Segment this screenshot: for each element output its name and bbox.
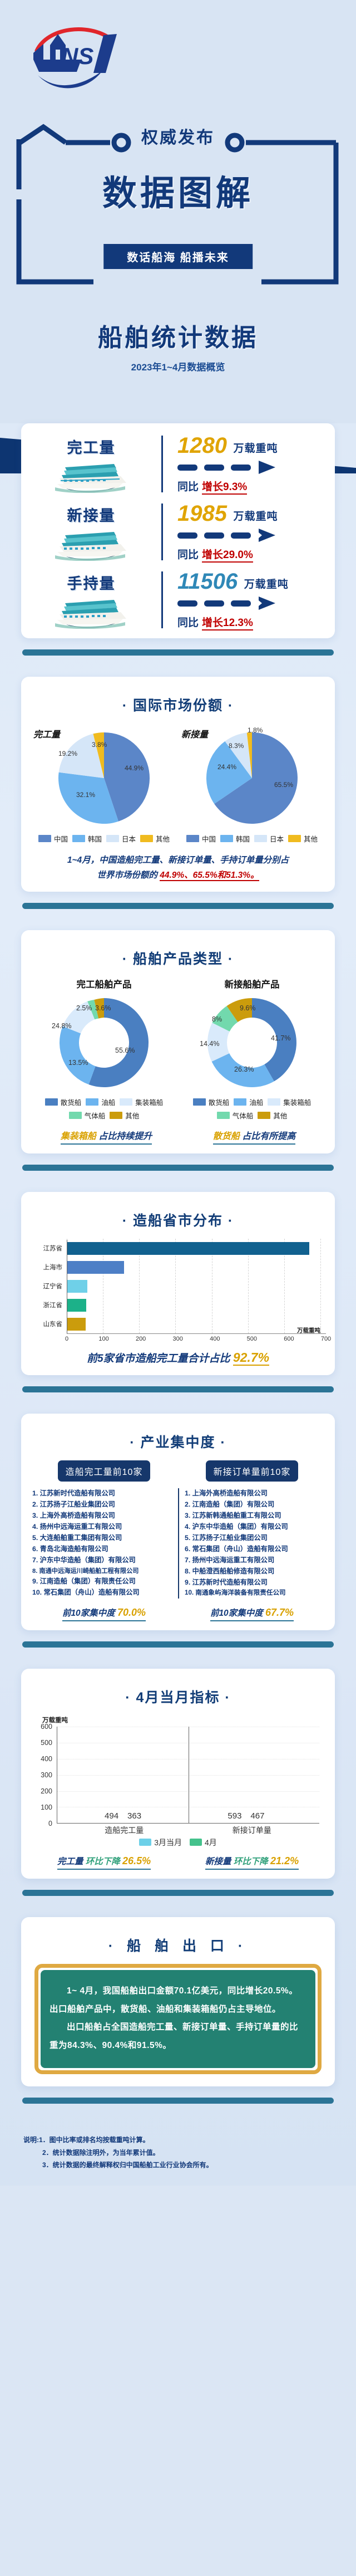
kpi-yoy-value-2: 增长12.3%	[202, 617, 253, 630]
cruise-ship-icon	[50, 594, 133, 629]
pie-legend-completions: 中国 韩国 日本 其他	[31, 833, 177, 844]
kpi-yoy-value-1: 增长29.0%	[202, 549, 253, 563]
dashed-arrow-icon	[177, 596, 335, 613]
export-paragraph-1: 1~ 4月，我国船舶出口金额70.1亿美元，同比增长20.5%。出口船舶产品中，…	[50, 1982, 306, 2018]
kpi-right-1: 1985 万载重吨 同比增长29.0%	[163, 502, 335, 561]
slogan-bar: 数话船海 船播未来	[103, 244, 253, 269]
april-stats: 完工量 环比下降 26.5% 新接量 环比下降 21.2%	[30, 1855, 326, 1870]
april-unit-label: 万载重吨	[42, 1715, 326, 1724]
header: NS 权威发布 数据图解 数话船海 船播未来 船舶统计数据 2023年1~4月数…	[0, 0, 356, 423]
legend-label: 日本	[122, 833, 136, 844]
tag-left: 集装箱船 占比持续提升	[61, 1128, 152, 1145]
stat-value: 70.0%	[117, 1607, 146, 1618]
province-title: · 造船省市分布 ·	[30, 1210, 326, 1230]
province-bar	[67, 1261, 124, 1274]
stat-mid: 环比下降	[234, 1857, 268, 1866]
kpi-value-2: 11506	[177, 570, 238, 593]
list-item: 8. 中船澄西船舶修造有限公司	[185, 1566, 324, 1577]
april-x-label-0: 造船完工量	[57, 1825, 192, 1836]
legend-item: 散货船	[45, 1097, 82, 1107]
tag-left-highlight: 集装箱船	[61, 1132, 96, 1141]
legend-item: 集装箱船	[268, 1097, 311, 1107]
pie-label-cn: 65.5%	[274, 781, 293, 789]
header-badge: 权威发布	[0, 124, 356, 148]
x-tick: 300	[172, 1336, 182, 1342]
tag-left-rest: 占比持续提升	[98, 1132, 152, 1141]
y-tick: 100	[41, 1803, 52, 1811]
donut-label-other: 9.6%	[240, 1004, 256, 1012]
card-foot-bar	[22, 1386, 334, 1392]
card-foot-bar	[22, 1890, 334, 1896]
legend-item: 散货船	[193, 1097, 230, 1107]
donut-label-tanker: 26.3%	[234, 1065, 254, 1073]
donut-label-container: 24.8%	[52, 1022, 71, 1030]
kpi-right-2: 11506 万载重吨 同比增长12.3%	[163, 570, 335, 629]
april-legend: 3月当月 4月	[30, 1837, 326, 1848]
pie-label-other: 1.8%	[248, 726, 263, 734]
tag-right: 散货船 占比有所提高	[213, 1128, 295, 1145]
concentration-title: · 产业集中度 ·	[30, 1431, 326, 1451]
donut-label-bulk: 41.7%	[271, 1034, 290, 1042]
pie-chart-neworders: 新接量 65.5% 24.4% 8.3% 1.8%	[179, 724, 325, 844]
legend-swatch	[190, 1839, 202, 1846]
x-tick: 100	[98, 1336, 108, 1342]
legend-swatch	[193, 1098, 206, 1106]
x-tick: 700	[321, 1336, 331, 1342]
list-item: 4. 沪东中华造船（集团）有限公司	[185, 1522, 324, 1533]
kpi-yoy-prefix-2: 同比	[177, 617, 199, 629]
list-item: 10. 南通象屿海洋装备有限责任公司	[185, 1588, 324, 1599]
market-share-pies: 完工量 44.9% 32.1% 19.2% 3.8%	[30, 724, 326, 844]
pie-legend-neworders: 中国 韩国 日本 其他	[179, 833, 325, 844]
pie-label-kr: 24.4%	[217, 763, 236, 771]
legend-swatch	[120, 1098, 132, 1106]
legend-item: 日本	[106, 833, 136, 844]
province-label: 辽宁省	[30, 1282, 67, 1291]
province-card: · 造船省市分布 · 江苏省 上海市 辽宁省	[21, 1192, 335, 1375]
legend-label: 集装箱船	[283, 1097, 311, 1107]
cruise-ship-icon	[50, 526, 133, 561]
footnote-item: 1．图中比率或排名均按载重吨计算。	[39, 2134, 150, 2146]
note-line-2-prefix: 世界市场份额的	[97, 871, 157, 880]
page-title: 数据图解	[0, 165, 356, 215]
main-heading: 船舶统计数据	[0, 317, 356, 353]
legend-item: 中国	[38, 833, 68, 844]
card-foot-bar	[22, 903, 334, 909]
legend-swatch	[288, 835, 301, 842]
list-item: 1. 江苏新时代造船有限公司	[32, 1488, 176, 1499]
pie-label-jp: 19.2%	[58, 750, 77, 757]
legend-swatch	[186, 835, 199, 842]
legend-label: 油船	[249, 1097, 263, 1107]
april-stat-left: 完工量 环比下降 26.5%	[57, 1855, 151, 1870]
legend-label: 油船	[101, 1097, 115, 1107]
export-card: · 船 舶 出 口 · 1~ 4月，我国船舶出口金额70.1亿美元，同比增长20…	[21, 1917, 335, 2086]
province-row: 浙江省	[30, 1296, 326, 1314]
market-share-card: · 国际市场份额 · 完工量 44.9% 32.1%	[21, 677, 335, 892]
pie-label-other: 3.8%	[92, 741, 107, 749]
legend-label: 气体船	[85, 1110, 106, 1121]
legend-label: 4月	[205, 1838, 217, 1847]
completions-company-list: 1. 江苏新时代造船有限公司 2. 江苏扬子江船业集团公司 3. 上海外高桥造船…	[30, 1488, 178, 1599]
legend-item: 3月当月	[139, 1837, 182, 1848]
kpi-label-1: 新接量	[21, 504, 161, 525]
donut-label-bulk: 55.6%	[115, 1047, 135, 1054]
list-item: 4. 扬州中远海运重工有限公司	[32, 1522, 176, 1533]
y-tick: 400	[41, 1755, 52, 1763]
province-row: 江苏省	[30, 1239, 326, 1258]
footnote-head: 说明:	[23, 2134, 39, 2146]
donut-chart-neworders: 新接船舶产品 41.7% 26.3%	[179, 977, 325, 1121]
kpi-unit-2: 万载重吨	[244, 579, 289, 590]
april-card: · 4月当月指标 · 万载重吨 600 500 400 300 200 100 …	[21, 1669, 335, 1879]
stat-mid: 环比下降	[86, 1857, 120, 1866]
x-tick: 400	[210, 1336, 220, 1342]
donut-label-tanker: 13.5%	[68, 1059, 88, 1067]
legend-swatch	[72, 835, 85, 842]
province-unit-label: 万载重吨	[297, 1326, 320, 1335]
footnote-line: 说明: 1．图中比率或排名均按载重吨计算。	[23, 2134, 333, 2146]
kpi-value-1: 1985	[177, 502, 227, 525]
y-tick: 200	[41, 1787, 52, 1795]
legend-item: 集装箱船	[120, 1097, 163, 1107]
province-label: 江苏省	[30, 1244, 67, 1253]
pie-title-neworders: 新接量	[181, 727, 208, 740]
bar-value: 467	[250, 1811, 264, 1821]
concentration-tabs: 造船完工量前10家 新接订单量前10家	[30, 1460, 326, 1482]
legend-label: 散货船	[209, 1097, 230, 1107]
legend-label: 其他	[125, 1110, 139, 1121]
legend-swatch	[69, 1112, 82, 1119]
april-x-label-1: 新接订单量	[184, 1825, 319, 1836]
legend-swatch	[110, 1112, 122, 1119]
market-share-note: 1~4月，中国造船完工量、新接订单量、手持订单量分别占 世界市场份额的 44.9…	[33, 853, 323, 883]
kpi-row: 新接量	[21, 498, 335, 566]
list-item: 5. 大连船舶重工集团有限公司	[32, 1533, 176, 1544]
donut-label-gas: 8%	[212, 1015, 222, 1023]
legend-label: 集装箱船	[135, 1097, 163, 1107]
product-type-tags: 集装箱船 占比持续提升 散货船 占比有所提高	[30, 1128, 326, 1145]
kpi-yoy-value-0: 增长9.3%	[202, 481, 247, 495]
legend-item: 其他	[140, 833, 170, 844]
kpi-row: 完工量	[21, 430, 335, 498]
product-type-card: · 船舶产品类型 · 完工船舶产品	[21, 930, 335, 1153]
export-text: 1~ 4月，我国船舶出口金额70.1亿美元，同比增长20.5%。出口船舶产品中，…	[41, 1970, 315, 2068]
note-line-2-values: 44.9%、65.5%和51.3%。	[160, 871, 259, 881]
kpi-left-1: 新接量	[21, 504, 161, 561]
april-stat-right: 新接量 环比下降 21.2%	[205, 1855, 299, 1870]
list-item: 1. 上海外高桥造船有限公司	[185, 1488, 324, 1499]
list-item: 9. 江南造船（集团）有限责任公司	[32, 1576, 176, 1587]
legend-swatch	[140, 835, 153, 842]
legend-label: 韩国	[88, 833, 102, 844]
donut-chart-completed: 完工船舶产品 55.6% 13.5%	[31, 977, 177, 1121]
legend-swatch	[258, 1112, 270, 1119]
concentration-stats: 前10家集中度 70.0% 前10家集中度 67.7%	[30, 1606, 326, 1621]
list-item: 9. 江苏新时代造船有限公司	[185, 1577, 324, 1588]
legend-label: 日本	[270, 833, 284, 844]
list-item: 5. 江苏扬子江船业集团公司	[185, 1533, 324, 1544]
donut-label-gas: 2.5%	[76, 1004, 92, 1012]
legend-swatch	[45, 1098, 58, 1106]
pie-chart-completions: 完工量 44.9% 32.1% 19.2% 3.8%	[31, 724, 177, 844]
legend-label: 散货船	[61, 1097, 82, 1107]
province-bar-chart: 江苏省 上海市 辽宁省 浙江省 山东省	[30, 1239, 326, 1345]
tag-right-highlight: 散货船	[213, 1132, 240, 1141]
donut-legend-neworders: 散货船 油船 集装箱船 气体船 其他	[179, 1097, 325, 1121]
x-tick: 0	[65, 1336, 68, 1342]
list-item: 3. 上海外高桥造船有限公司	[32, 1511, 176, 1522]
x-tick: 500	[247, 1336, 257, 1342]
kpi-left-2: 手持量	[21, 571, 161, 629]
province-label: 山东省	[30, 1319, 67, 1328]
tab-completions-top10[interactable]: 造船完工量前10家	[58, 1460, 151, 1482]
svg-text:NS: NS	[61, 43, 93, 69]
kpi-card: 完工量	[21, 423, 335, 638]
legend-item: 韩国	[220, 833, 250, 844]
card-foot-bar	[22, 1165, 334, 1171]
export-paragraph-2: 出口船舶占全国造船完工量、新接订单量、手持订单量的比重为84.3%、90.4%和…	[50, 2018, 306, 2055]
kpi-unit-0: 万载重吨	[233, 443, 278, 454]
legend-swatch	[254, 835, 267, 842]
tag-right-rest: 占比有所提高	[242, 1132, 295, 1141]
legend-swatch	[220, 835, 233, 842]
kpi-right-0: 1280 万载重吨 同比增长9.3%	[163, 434, 335, 493]
bar-value: 593	[228, 1811, 241, 1821]
tab-neworders-top10[interactable]: 新接订单量前10家	[206, 1460, 299, 1482]
donut-label-other: 3.6%	[95, 1004, 111, 1012]
legend-swatch	[217, 1112, 230, 1119]
kpi-yoy-prefix-0: 同比	[177, 481, 199, 493]
concentration-stat-left: 前10家集中度 70.0%	[62, 1606, 146, 1621]
footnote-item: 2．统计数据除注明外，为当年累计值。	[42, 2147, 160, 2159]
product-type-title: · 船舶产品类型 ·	[30, 948, 326, 968]
y-tick: 500	[41, 1739, 52, 1747]
legend-label: 其他	[273, 1110, 287, 1121]
legend-item: 日本	[254, 833, 284, 844]
legend-label: 其他	[156, 833, 170, 844]
donut-label-container: 14.4%	[200, 1040, 219, 1048]
province-row: 辽宁省	[30, 1277, 326, 1296]
legend-item: 中国	[186, 833, 216, 844]
y-tick: 300	[41, 1771, 52, 1779]
province-stat-value: 92.7%	[233, 1350, 269, 1366]
concentration-lists: 1. 江苏新时代造船有限公司 2. 江苏扬子江船业集团公司 3. 上海外高桥造船…	[30, 1488, 326, 1599]
donut-title-neworders: 新接船舶产品	[179, 977, 325, 990]
dashed-arrow-icon	[177, 460, 335, 477]
cansi-logo: NS	[21, 19, 132, 92]
legend-label: 中国	[202, 833, 216, 844]
legend-item: 油船	[86, 1097, 115, 1107]
legend-swatch	[106, 835, 119, 842]
pie-label-kr: 32.1%	[76, 791, 95, 799]
y-tick: 600	[41, 1723, 52, 1731]
province-bar	[67, 1280, 87, 1293]
export-box: 1~ 4月，我国船舶出口金额70.1亿美元，同比增长20.5%。出口船舶产品中，…	[34, 1964, 322, 2074]
province-stat-prefix: 前5家省市造船完工量合计占比	[87, 1353, 230, 1365]
legend-swatch	[86, 1098, 98, 1106]
dashed-arrow-icon	[177, 528, 335, 545]
pie-label-jp: 8.3%	[229, 742, 244, 750]
legend-item: 油船	[234, 1097, 263, 1107]
april-title: · 4月当月指标 ·	[30, 1687, 326, 1707]
date-subtitle: 2023年1~4月数据概览	[0, 359, 356, 373]
export-title: · 船 舶 出 口 ·	[30, 1935, 326, 1955]
stat-label: 前10家集中度	[62, 1609, 115, 1618]
province-row: 上海市	[30, 1258, 326, 1277]
kpi-yoy-2: 同比增长12.3%	[177, 614, 335, 629]
april-bar-chart: 600 500 400 300 200 100 0 494 363	[34, 1727, 322, 1836]
province-label: 上海市	[30, 1263, 67, 1272]
neworders-company-list: 1. 上海外高桥造船有限公司 2. 江南造船（集团）有限公司 3. 江苏新韩通船…	[178, 1488, 326, 1599]
legend-item: 韩国	[72, 833, 102, 844]
legend-item: 4月	[190, 1837, 217, 1848]
list-item: 6. 青岛北海造船有限公司	[32, 1544, 176, 1555]
y-tick: 0	[48, 1820, 52, 1827]
note-line-1: 1~4月，中国造船完工量、新接订单量、手持订单量分别占	[67, 856, 289, 865]
donut-title-completed: 完工船舶产品	[31, 977, 177, 990]
legend-swatch	[139, 1839, 151, 1846]
province-bar	[67, 1242, 309, 1255]
province-bar	[67, 1318, 86, 1331]
legend-label: 3月当月	[154, 1838, 182, 1847]
cruise-ship-icon	[50, 458, 133, 493]
card-foot-bar	[22, 1641, 334, 1648]
pie-label-cn: 44.9%	[125, 764, 144, 772]
stat-bold: 完工量	[57, 1857, 83, 1866]
kpi-value-0: 1280	[177, 434, 227, 457]
list-item: 2. 江南造船（集团）有限公司	[185, 1499, 324, 1511]
legend-item: 其他	[288, 833, 318, 844]
kpi-label-2: 手持量	[21, 571, 161, 593]
donut-legend-completed: 散货船 油船 集装箱船 气体船 其他	[31, 1097, 177, 1121]
list-item: 2. 江苏扬子江船业集团公司	[32, 1499, 176, 1511]
kpi-yoy-0: 同比增长9.3%	[177, 478, 335, 493]
footnote-line: 2．统计数据除注明外，为当年累计值。	[23, 2147, 333, 2159]
legend-label: 中国	[54, 833, 68, 844]
legend-item: 气体船	[217, 1110, 254, 1121]
province-stat: 前5家省市造船完工量合计占比 92.7%	[30, 1350, 326, 1365]
footnotes: 说明: 1．图中比率或排名均按载重吨计算。 2．统计数据除注明外，为当年累计值。…	[21, 2125, 335, 2186]
list-item: 6. 常石集团（舟山）造船有限公司	[185, 1544, 324, 1555]
legend-swatch	[234, 1098, 246, 1106]
kpi-row: 手持量	[21, 566, 335, 634]
kpi-yoy-prefix-1: 同比	[177, 549, 199, 561]
list-item: 3. 江苏新韩通船舶重工有限公司	[185, 1511, 324, 1522]
legend-label: 韩国	[236, 833, 250, 844]
kpi-yoy-1: 同比增长29.0%	[177, 546, 335, 561]
province-x-axis: 万载重吨 0 100 200 300 400 500 600 700	[67, 1333, 326, 1345]
concentration-stat-right: 前10家集中度 67.7%	[210, 1606, 294, 1621]
kpi-label-0: 完工量	[21, 436, 161, 457]
legend-item: 其他	[258, 1110, 287, 1121]
market-share-title: · 国际市场份额 ·	[30, 695, 326, 715]
stat-bold: 新接量	[205, 1857, 231, 1866]
bar-value: 363	[127, 1811, 141, 1821]
card-foot-bar	[22, 2098, 334, 2104]
province-row: 山东省	[30, 1314, 326, 1333]
list-item: 7. 沪东中华造船（集团）有限公司	[32, 1555, 176, 1566]
concentration-card: · 产业集中度 · 造船完工量前10家 新接订单量前10家 1. 江苏新时代造船…	[21, 1414, 335, 1630]
stat-value: 21.2%	[270, 1855, 299, 1866]
april-plot-area: 494 363 593 467	[57, 1727, 319, 1824]
legend-swatch	[38, 835, 51, 842]
stat-value: 26.5%	[122, 1855, 151, 1866]
stat-value: 67.7%	[265, 1607, 294, 1618]
y-axis-line	[67, 1240, 67, 1333]
infographic-page: NS 权威发布 数据图解 数话船海 船播未来 船舶统计数据 2023年1~4月数…	[0, 0, 356, 2186]
list-item: 7. 扬州中远海运重工有限公司	[185, 1555, 324, 1566]
list-item: 8. 南通中远海运川崎船舶工程有限公司	[32, 1566, 176, 1576]
legend-label: 气体船	[233, 1110, 254, 1121]
x-tick: 200	[136, 1336, 146, 1342]
list-item: 10. 常石集团（舟山）造船有限公司	[32, 1587, 176, 1599]
province-label: 浙江省	[30, 1301, 67, 1309]
legend-item: 气体船	[69, 1110, 106, 1121]
kpi-left-0: 完工量	[21, 436, 161, 493]
x-tick: 600	[284, 1336, 294, 1342]
legend-label: 其他	[304, 833, 318, 844]
footnote-line: 3．统计数据的最终解释权归中国船舶工业行业协会所有。	[23, 2159, 333, 2171]
product-type-donuts: 完工船舶产品 55.6% 13.5%	[30, 977, 326, 1121]
bar-value: 494	[105, 1811, 118, 1821]
pie-title-completions: 完工量	[33, 727, 60, 740]
footnote-item: 3．统计数据的最终解释权归中国船舶工业行业协会所有。	[42, 2159, 213, 2171]
province-bar	[67, 1299, 86, 1312]
kpi-unit-1: 万载重吨	[233, 511, 278, 522]
stat-label: 前10家集中度	[210, 1609, 263, 1618]
legend-swatch	[268, 1098, 280, 1106]
legend-item: 其他	[110, 1110, 139, 1121]
card-foot-bar	[22, 649, 334, 656]
april-y-axis: 600 500 400 300 200 100 0	[34, 1727, 55, 1824]
